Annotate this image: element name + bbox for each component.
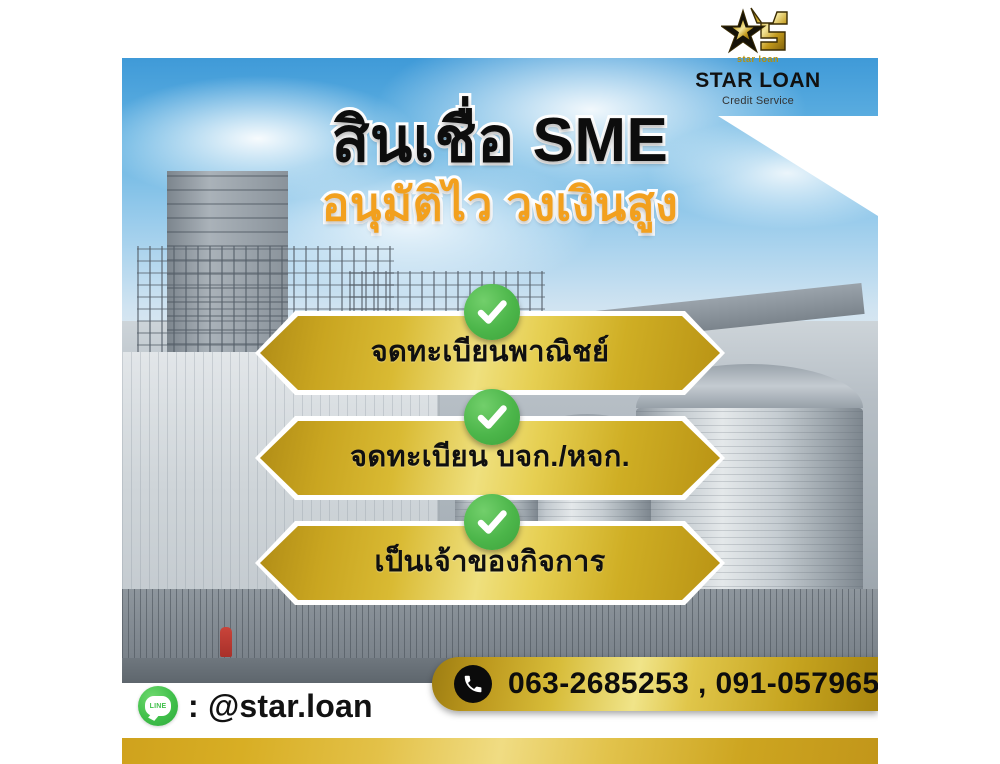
promotional-poster: star loan STAR LOAN Credit Service สินเช… <box>0 0 1000 764</box>
benefit-label-3: เป็นเจ้าของกิจการ <box>375 547 606 579</box>
line-bubble: LINE <box>145 696 171 716</box>
phone-icon <box>454 665 492 703</box>
bottom-accent-bar <box>122 738 878 764</box>
line-icon: LINE <box>138 686 178 726</box>
line-id: : @star.loan <box>188 688 373 725</box>
check-circle-icon-3 <box>464 494 520 550</box>
check-circle-icon-2 <box>464 389 520 445</box>
line-contact[interactable]: LINE : @star.loan <box>138 686 373 726</box>
line-badge-text: LINE <box>150 703 167 710</box>
phone-contact-banner[interactable]: 063-2685253 , 091-0579656 <box>432 657 878 711</box>
hero-subheadline: อนุมัติไว วงเงินสูง <box>122 179 878 231</box>
brand-name: STAR LOAN <box>638 70 878 92</box>
benefit-row-3: เป็นเจ้าของกิจการ <box>122 526 878 631</box>
star-loan-emblem-icon: star loan <box>721 4 795 66</box>
brand-tagline: Credit Service <box>638 95 878 107</box>
benefits-list: จดทะเบียนพาณิชย์ จดทะเบียน บจก./หจก. <box>122 316 878 631</box>
poster-card: star loan STAR LOAN Credit Service สินเช… <box>122 0 878 764</box>
hero-headline: สินเชื่อ SME <box>122 108 878 175</box>
brand-logo-block: star loan STAR LOAN Credit Service <box>638 4 878 107</box>
benefit-label-1: จดทะเบียนพาณิชย์ <box>371 337 610 369</box>
hero-text-block: สินเชื่อ SME อนุมัติไว วงเงินสูง <box>122 108 878 230</box>
svg-text:star loan: star loan <box>737 54 779 64</box>
phone-numbers: 063-2685253 , 091-0579656 <box>508 667 878 701</box>
fire-hydrant <box>220 627 232 657</box>
check-circle-icon-1 <box>464 284 520 340</box>
benefit-label-2: จดทะเบียน บจก./หจก. <box>350 442 630 474</box>
